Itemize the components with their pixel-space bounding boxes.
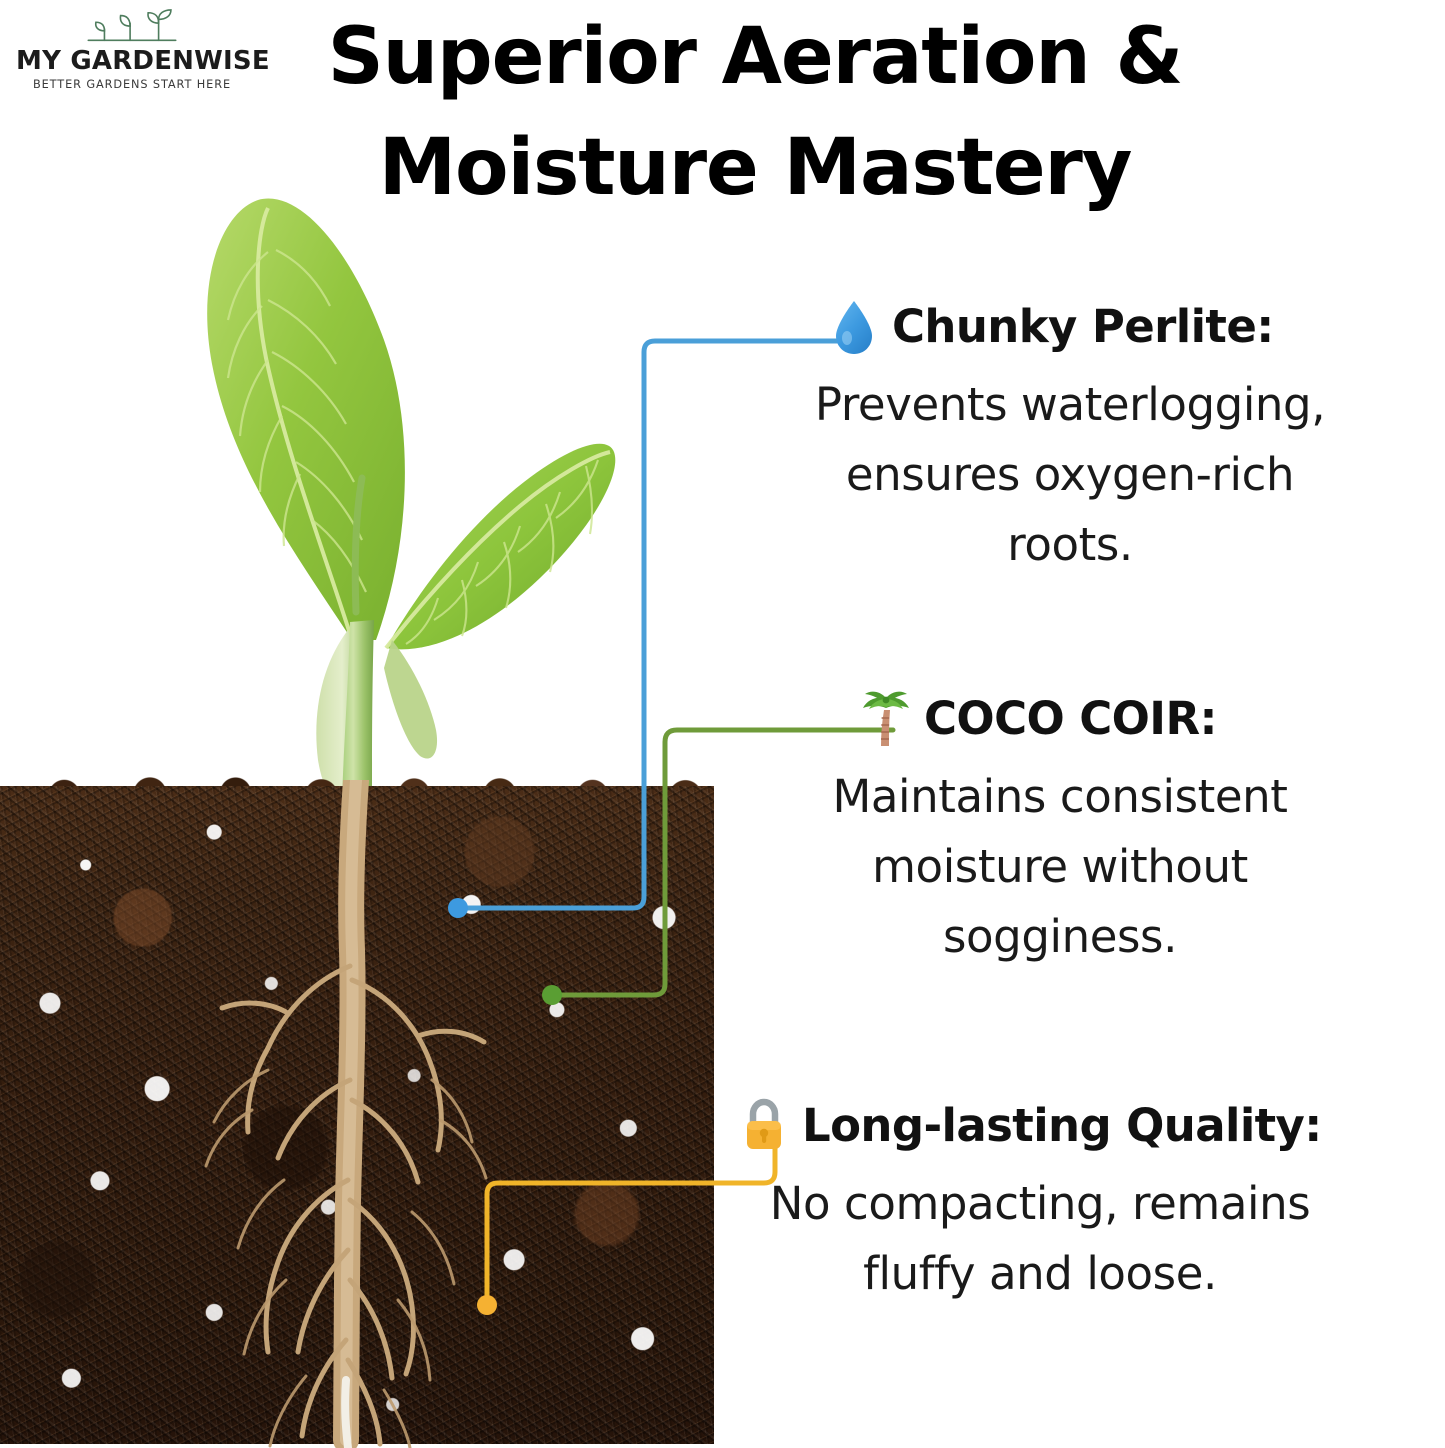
brand-name: MY GARDENWISE [16,48,248,74]
callout-perlite-body-line-2: ensures oxygen-rich [720,440,1420,510]
callout-perlite-title: Chunky Perlite: [892,303,1274,350]
callout-perlite-body-line-1: Prevents waterlogging, [720,370,1420,440]
three-sprouts-icon [75,8,189,46]
lock-icon [738,1095,790,1157]
leaf-sheath-right [384,640,437,758]
brand-tagline: BETTER GARDENS START HERE [16,78,248,91]
page-title: Superior Aeration & Moisture Mastery [250,2,1260,224]
callout-perlite-body-line-3: roots. [720,510,1420,580]
palm-tree-icon [860,688,912,750]
callout-quality-body-line-2: fluffy and loose. [650,1239,1430,1309]
root-tip [345,1380,348,1448]
callout-coir-body-line-2: moisture without [690,832,1430,902]
callout-coir-head: COCO COIR: [660,688,1445,750]
root-system [0,780,714,1448]
callout-quality-title: Long-lasting Quality: [802,1102,1322,1149]
brand-logo[interactable]: MY GARDENWISE BETTER GARDENS START HERE [16,8,248,91]
callout-coir-body-line-1: Maintains consistent [690,762,1430,832]
water-droplet-icon [828,296,880,358]
leaf-left [207,199,405,640]
callout-coir: COCO COIR: Maintains consistent moisture… [660,688,1445,971]
callout-quality-head: Long-lasting Quality: [640,1095,1445,1157]
headline-line-2: Moisture Mastery [250,113,1260,224]
callout-perlite-body: Prevents waterlogging, ensures oxygen-ri… [720,370,1420,579]
callout-perlite: Chunky Perlite: Prevents waterlogging, e… [700,296,1445,579]
callout-quality: Long-lasting Quality: No compacting, rem… [640,1095,1445,1309]
callout-quality-body-line-1: No compacting, remains [650,1169,1430,1239]
leaf-right [386,444,615,650]
callout-coir-title: COCO COIR: [924,695,1217,742]
headline-line-1: Superior Aeration & [328,12,1183,102]
callout-perlite-head: Chunky Perlite: [700,296,1445,358]
callout-coir-body: Maintains consistent moisture without so… [690,762,1430,971]
callout-quality-body: No compacting, remains fluffy and loose. [650,1169,1430,1309]
infographic-canvas: MY GARDENWISE BETTER GARDENS START HERE … [0,0,1445,1448]
callout-coir-body-line-3: sogginess. [690,902,1430,972]
